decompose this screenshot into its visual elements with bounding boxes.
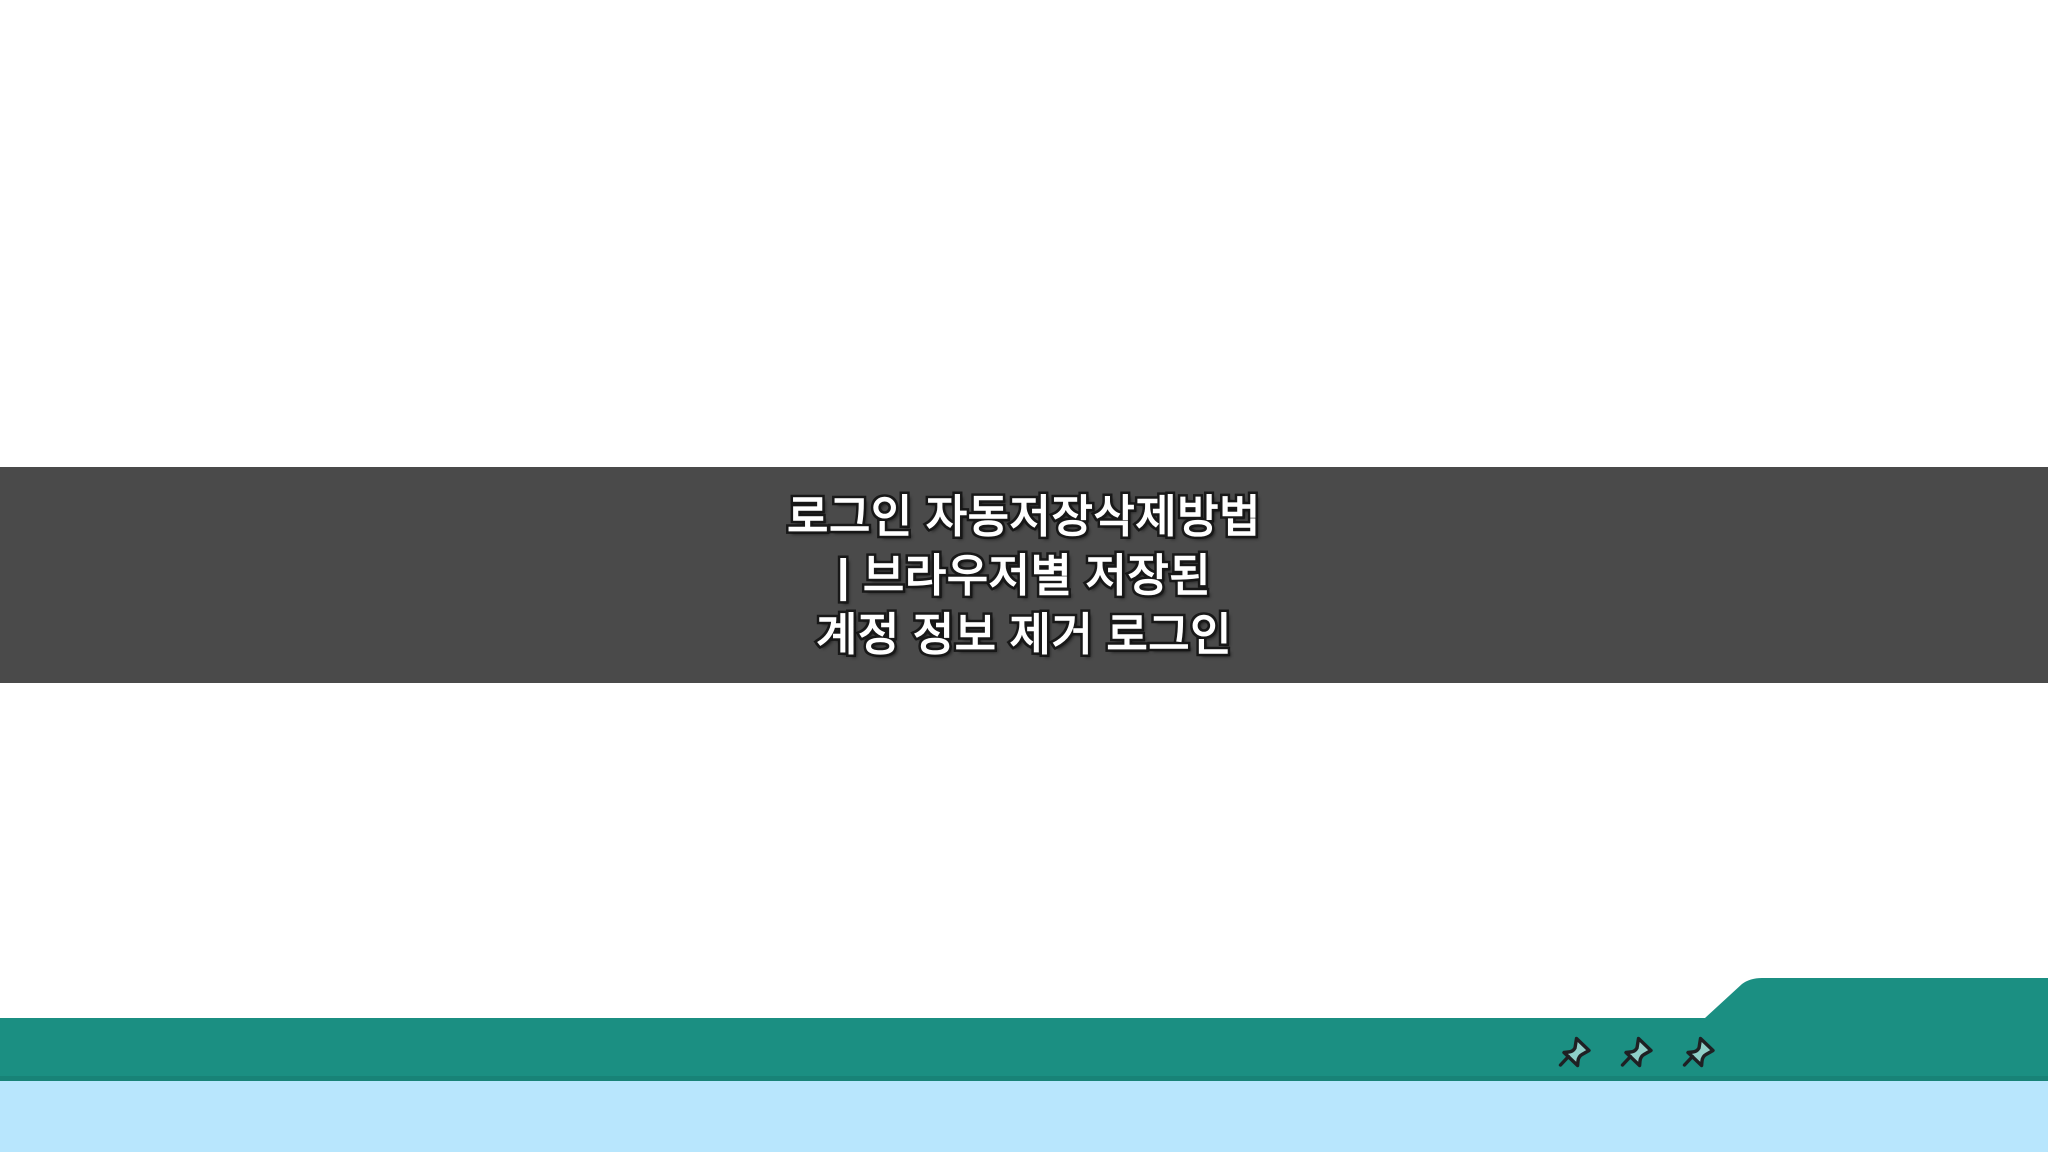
- pushpin-icon[interactable]: [1614, 1030, 1660, 1076]
- pushpin-icon-row: [1552, 1024, 1722, 1082]
- bottom-accent-strip: [0, 1081, 2048, 1152]
- thumbnail-canvas: 로그인 자동저장삭제방법 | 브라우저별 저장된 계정 정보 제거 로그인: [0, 0, 2048, 1152]
- footer-bar-fill: [0, 978, 2048, 1081]
- title-band: 로그인 자동저장삭제방법 | 브라우저별 저장된 계정 정보 제거 로그인: [0, 467, 2048, 683]
- pushpin-icon[interactable]: [1676, 1030, 1722, 1076]
- footer-bar-shape: [0, 975, 2048, 1081]
- title-line-2: | 브라우저별 저장된: [0, 546, 2048, 605]
- title-line-1: 로그인 자동저장삭제방법: [0, 487, 2048, 546]
- middle-blank-area: [0, 683, 2048, 1018]
- pushpin-icon[interactable]: [1552, 1030, 1598, 1076]
- footer-bar: [0, 975, 2048, 1081]
- title-line-3: 계정 정보 제거 로그인: [0, 605, 2048, 664]
- top-blank-area: [0, 0, 2048, 467]
